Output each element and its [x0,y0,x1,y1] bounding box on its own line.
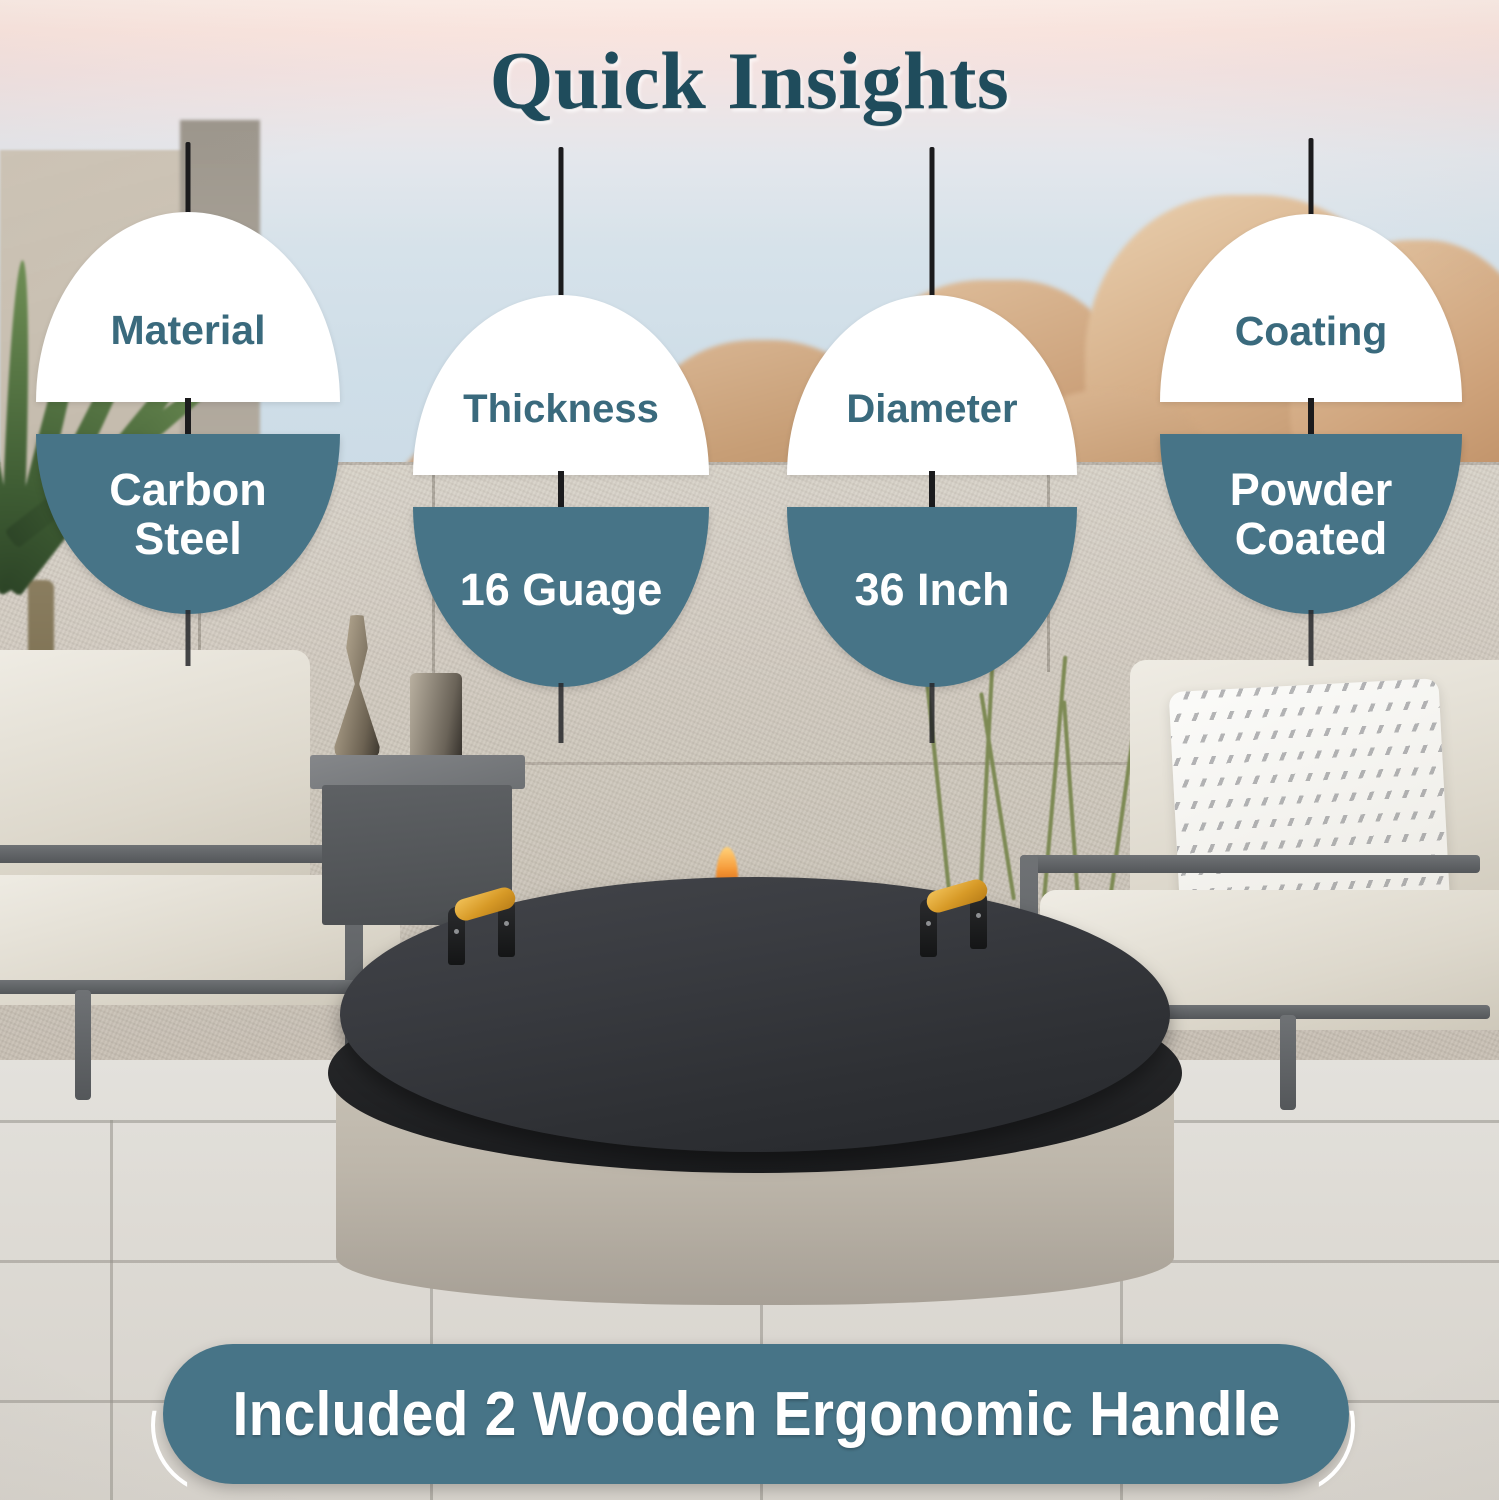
connector-line-top [186,142,191,214]
page-title: Quick Insights [0,34,1499,128]
connector-line-middle [558,471,564,509]
connector-line-middle [929,471,935,509]
spec-label: Diameter [846,340,1017,430]
connector-line-bottom [930,683,935,743]
spec-label: Material [111,261,266,352]
spec-value: Powder Coated [1230,466,1393,581]
feature-banner: Included 2 Wooden Ergonomic Handle [163,1344,1349,1484]
wooden-handle-right [918,885,1014,959]
chair-frame-leg [75,990,91,1100]
infographic-canvas: Quick Insights Material Carbon Steel Thi… [0,0,1499,1500]
side-table-top [310,755,525,789]
banner-text: Included 2 Wooden Ergonomic Handle [232,1379,1280,1450]
decorative-tumbler [410,673,462,765]
spec-label: Coating [1235,262,1388,353]
wooden-handle-left [446,893,542,967]
fire-pit-product [318,855,1188,1325]
connector-line-bottom [559,683,564,743]
connector-line-middle [1308,398,1314,436]
connector-line-bottom [186,610,191,666]
spec-value: Carbon Steel [109,466,267,581]
connector-line-top [559,147,564,297]
spec-value: 36 Inch [854,566,1009,629]
connector-line-top [930,147,935,297]
connector-line-middle [185,398,191,436]
connector-line-bottom [1309,610,1314,666]
spec-value: 16 Guage [460,566,663,629]
connector-line-top [1309,138,1314,216]
sofa-frame-leg [1280,1015,1296,1110]
spec-label: Thickness [463,340,659,430]
